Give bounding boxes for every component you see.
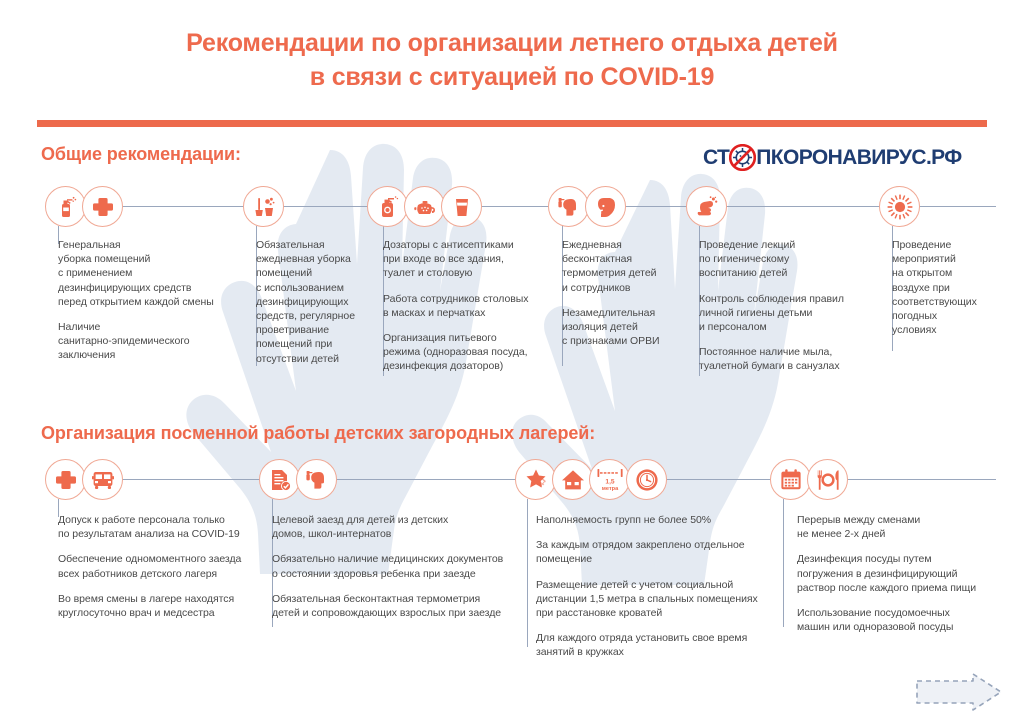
right-arrow-outline-icon — [915, 672, 1003, 712]
title-line-1: Рекомендации по организации летнего отды… — [0, 26, 1024, 60]
thermometer-forehead-icon — [296, 459, 337, 500]
item-text: Дезинфекция посуды путемпогружения в дез… — [797, 552, 997, 595]
virus-stop-icon — [729, 144, 756, 171]
item-text: Наполняемость групп не более 50% — [536, 513, 784, 527]
timeline-rail-1 — [56, 206, 996, 207]
item-text: Обязательная бесконтактная термометрияде… — [272, 592, 522, 620]
item-text: Генеральнаяуборка помещенийс применением… — [58, 238, 248, 309]
item-text: Дозаторы с антисептикамипри входе во все… — [383, 238, 558, 281]
column-2-1: Допуск к работе персонала толькопо резул… — [58, 513, 273, 620]
svg-text:метра: метра — [601, 486, 618, 492]
item-text: Незамедлительнаяизоляция детейс признака… — [562, 306, 697, 349]
infographic-page: Рекомендации по организации летнего отды… — [0, 0, 1024, 724]
column-1-5: Проведение лекцийпо гигиеническомувоспит… — [699, 238, 864, 374]
stopcoronavirus-logo[interactable]: СТ ПКОРОНАВИРУС.РФ — [703, 144, 962, 170]
item-text: Ежедневнаябесконтактнаятермометрия детей… — [562, 238, 697, 295]
icon-group-1-3 — [367, 186, 478, 227]
title-divider — [37, 120, 987, 127]
column-1-3: Дозаторы с антисептикамипри входе во все… — [383, 238, 558, 374]
column-1-2: Обязательнаяежедневная уборкапомещенийс … — [256, 238, 376, 366]
stem-2-3 — [527, 499, 528, 647]
page-title: Рекомендации по организации летнего отды… — [0, 26, 1024, 94]
sick-person-icon — [585, 186, 626, 227]
item-text: Контроль соблюдения правилличной гигиены… — [699, 292, 864, 335]
medical-cross-icon — [45, 459, 86, 500]
item-text: Работа сотрудников столовыхв масках и пе… — [383, 292, 558, 320]
column-2-2: Целевой заезд для детей из детскихдомов,… — [272, 513, 522, 620]
title-line-2: в связи с ситуацией по COVID-19 — [0, 60, 1024, 94]
item-text: Перерыв между сменамине менее 2-х дней — [797, 513, 997, 541]
teapot-icon — [404, 186, 445, 227]
section-header-camps: Организация посменной работы детских заг… — [41, 423, 595, 444]
column-1-6: Проведениемероприятийна открытомвоздухе … — [892, 238, 992, 337]
icon-group-1-4 — [548, 186, 622, 227]
column-2-3: Наполняемость групп не более 50% За кажд… — [536, 513, 784, 660]
item-text: Обязательно наличие медицинских документ… — [272, 552, 522, 580]
item-text: Целевой заезд для детей из детскихдомов,… — [272, 513, 522, 541]
medical-cross-icon — [82, 186, 123, 227]
icon-group-1-6 — [879, 186, 916, 227]
item-text: Использование посудомоечныхмашин или одн… — [797, 606, 997, 634]
spray-bottle-icon — [45, 186, 86, 227]
house-icon — [552, 459, 593, 500]
icon-group-2-1 — [45, 459, 119, 500]
item-text: Наличиесанитарно-эпидемическогозаключени… — [58, 320, 248, 363]
icon-group-2-2 — [259, 459, 333, 500]
item-text: Проведение лекцийпо гигиеническомувоспит… — [699, 238, 864, 281]
icon-group-2-4 — [770, 459, 844, 500]
item-text: Организация питьевогорежима (одноразовая… — [383, 331, 558, 374]
icon-group-2-3: 1,5 метра — [515, 459, 663, 500]
logo-prefix: СТ — [703, 147, 729, 168]
logo-suffix: ПКОРОНАВИРУС.РФ — [756, 147, 961, 168]
section-header-general: Общие рекомендации: — [41, 144, 241, 165]
group-people-icon — [515, 459, 556, 500]
document-check-icon — [259, 459, 300, 500]
calendar-icon — [770, 459, 811, 500]
item-text: Допуск к работе персонала толькопо резул… — [58, 513, 273, 541]
thermometer-forehead-icon — [548, 186, 589, 227]
handwashing-icon — [686, 186, 727, 227]
bus-icon — [82, 459, 123, 500]
plate-cutlery-icon — [807, 459, 848, 500]
item-text: Обеспечение одномоментного заездавсех ра… — [58, 552, 273, 580]
column-1-4: Ежедневнаябесконтактнаятермометрия детей… — [562, 238, 697, 348]
item-text: Для каждого отряда установить свое время… — [536, 631, 784, 659]
mop-bucket-cleaning-icon — [243, 186, 284, 227]
icon-group-1-2 — [243, 186, 280, 227]
sun-icon — [879, 186, 920, 227]
icon-group-1-1 — [45, 186, 119, 227]
clock-icon — [626, 459, 667, 500]
item-text: Размещение детей с учетом социальнойдист… — [536, 578, 784, 621]
item-text: Обязательнаяежедневная уборкапомещенийс … — [256, 238, 376, 366]
column-1-1: Генеральнаяуборка помещенийс применением… — [58, 238, 248, 363]
item-text: Во время смены в лагере находятсякруглос… — [58, 592, 273, 620]
drinking-glass-icon — [441, 186, 482, 227]
distance-1-5m-icon: 1,5 метра — [589, 459, 630, 500]
item-text: Постоянное наличие мыла,туалетной бумаги… — [699, 345, 864, 373]
item-text: За каждым отрядом закреплено отдельноепо… — [536, 538, 784, 566]
svg-text:1,5: 1,5 — [605, 478, 614, 485]
sanitizer-dispenser-icon — [367, 186, 408, 227]
column-2-4: Перерыв между сменамине менее 2-х дней Д… — [797, 513, 997, 634]
icon-group-1-5 — [686, 186, 723, 227]
item-text: Проведениемероприятийна открытомвоздухе … — [892, 238, 992, 337]
